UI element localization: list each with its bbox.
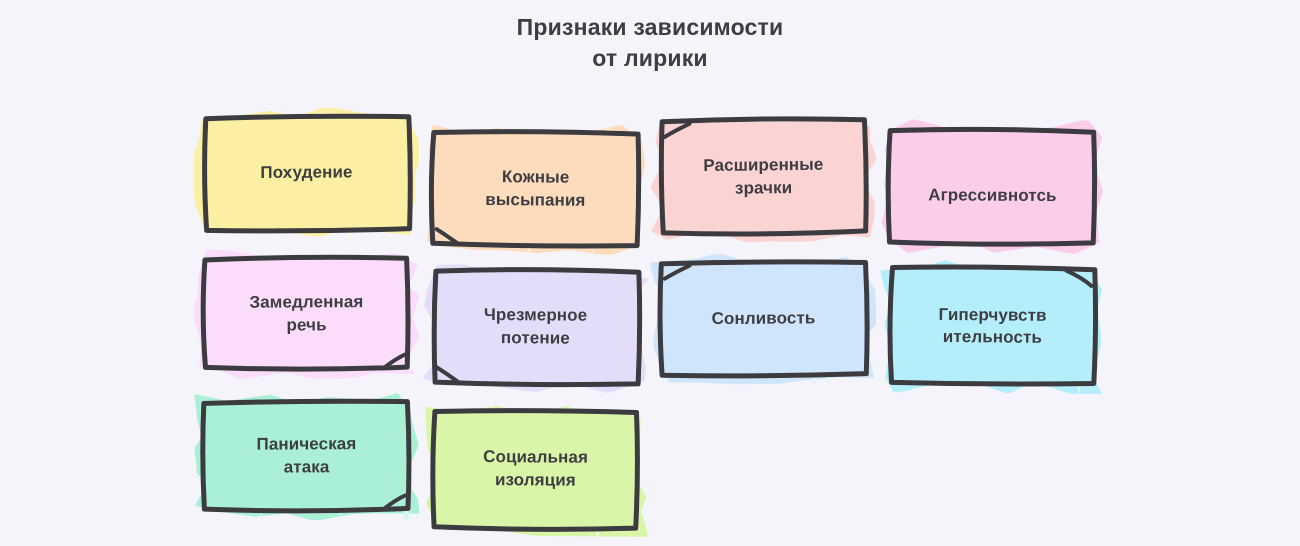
card-label: Кожные высыпания xyxy=(438,166,633,213)
symptom-card[interactable]: Сонливость xyxy=(660,261,868,376)
concept-card-board: Признаки зависимости от лирики Похудение… xyxy=(0,0,1300,546)
symptom-card[interactable]: Гиперчувств ительность xyxy=(888,267,1096,386)
card-label: Агрессивнотсь xyxy=(895,184,1090,208)
card-label: Расширенные зрачки xyxy=(666,153,861,200)
card-label: Чрезмерное потение xyxy=(438,304,633,351)
symptom-card[interactable]: Похудение xyxy=(203,115,411,230)
symptom-card[interactable]: Социальная изоляция xyxy=(432,409,640,528)
card-label: Паническая атака xyxy=(209,433,404,479)
symptom-card[interactable]: Расширенные зрачки xyxy=(659,119,867,235)
card-label: Социальная изоляция xyxy=(438,446,633,493)
symptom-card[interactable]: Кожные высыпания xyxy=(432,131,640,247)
symptom-card[interactable]: Агрессивнотсь xyxy=(889,127,1097,245)
card-label: Похудение xyxy=(209,161,404,185)
card-label: Гиперчувств ительность xyxy=(895,303,1090,350)
symptom-card[interactable]: Чрезмерное потение xyxy=(432,269,640,384)
card-label: Сонливость xyxy=(666,307,861,331)
symptom-card[interactable]: Замедленная речь xyxy=(203,256,411,371)
page-title: Признаки зависимости от лирики xyxy=(0,12,1300,74)
symptom-card[interactable]: Паническая атака xyxy=(203,399,411,512)
card-label: Замедленная речь xyxy=(209,291,404,337)
